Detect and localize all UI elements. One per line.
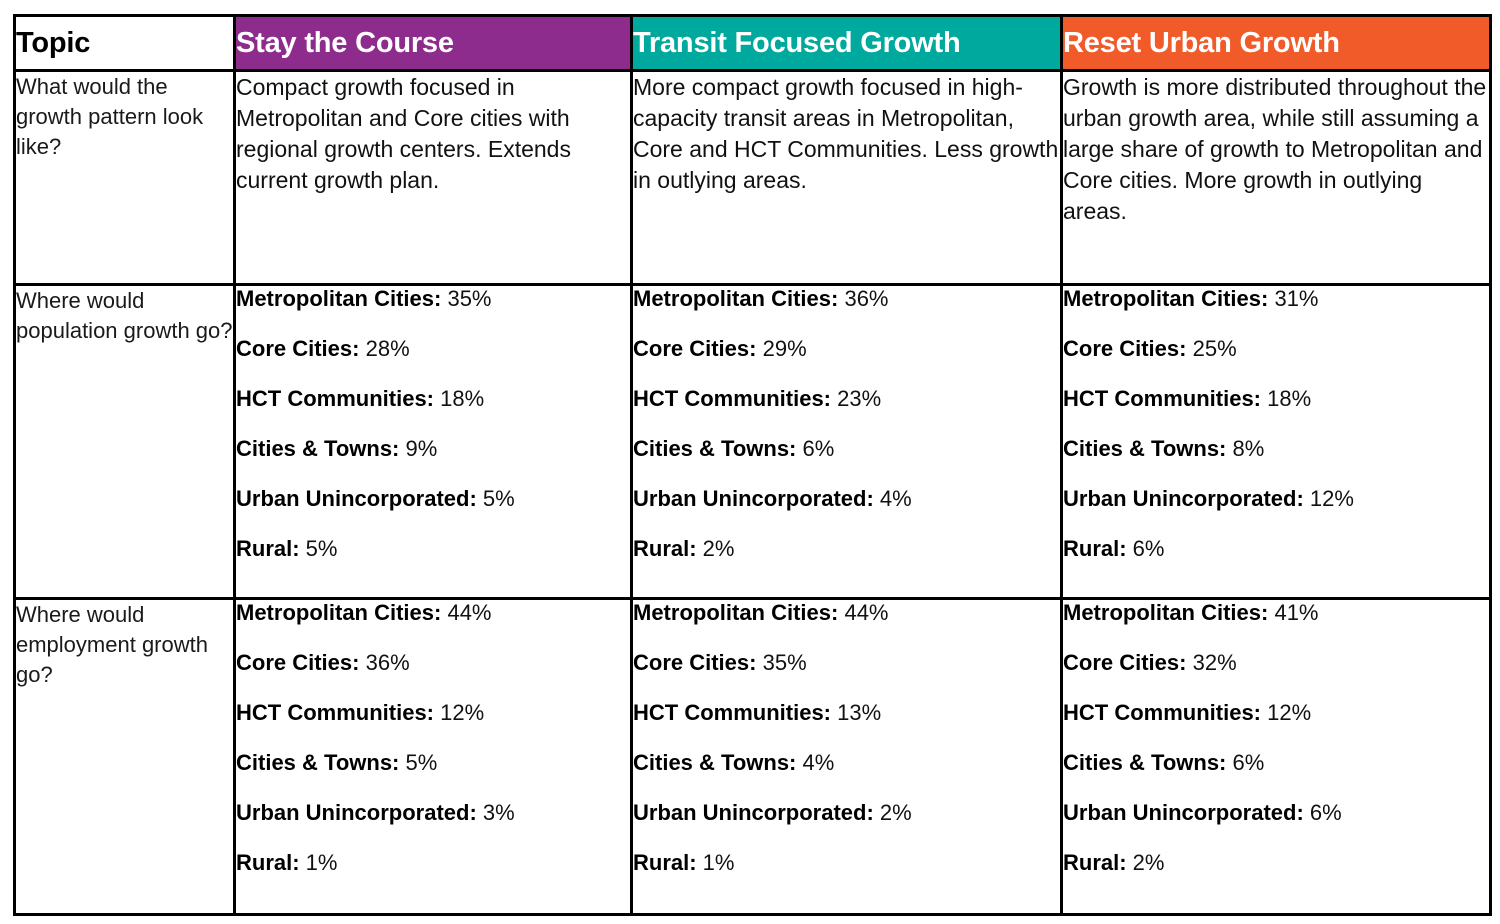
- breakdown-item: Metropolitan Cities: 36%: [633, 286, 1060, 312]
- column-header-topic: Topic: [15, 16, 235, 71]
- breakdown-item-label: HCT Communities:: [236, 700, 434, 725]
- table-row-population-growth: Where would population growth go? Metrop…: [15, 285, 1491, 599]
- row-topic-growth-pattern: What would the growth pattern look like?: [15, 71, 235, 285]
- cell-growth-pattern-reset-urban-growth: Growth is more distributed throughout th…: [1062, 71, 1491, 285]
- breakdown-item: Core Cities: 25%: [1063, 336, 1489, 362]
- breakdown-item-label: Rural:: [1063, 536, 1127, 561]
- breakdown-item: Urban Unincorporated: 3%: [236, 800, 630, 826]
- breakdown-item-label: Metropolitan Cities:: [1063, 600, 1268, 625]
- breakdown-list: Metropolitan Cities: 41%Core Cities: 32%…: [1063, 600, 1489, 876]
- breakdown-item: Cities & Towns: 8%: [1063, 436, 1489, 462]
- breakdown-item: Metropolitan Cities: 44%: [633, 600, 1060, 626]
- breakdown-list: Metropolitan Cities: 35%Core Cities: 28%…: [236, 286, 630, 562]
- breakdown-list: Metropolitan Cities: 31%Core Cities: 25%…: [1063, 286, 1489, 562]
- growth-scenario-comparison-table: Topic Stay the Course Transit Focused Gr…: [13, 14, 1492, 916]
- breakdown-item-label: Cities & Towns:: [236, 750, 399, 775]
- breakdown-item: Core Cities: 36%: [236, 650, 630, 676]
- breakdown-item: Rural: 2%: [1063, 850, 1489, 876]
- breakdown-item: Core Cities: 32%: [1063, 650, 1489, 676]
- row-topic-population-growth: Where would population growth go?: [15, 285, 235, 599]
- breakdown-item-value: 5%: [300, 536, 338, 561]
- breakdown-item-label: Urban Unincorporated:: [236, 486, 477, 511]
- breakdown-item-value: 6%: [1304, 800, 1342, 825]
- breakdown-item-value: 35%: [441, 286, 491, 311]
- breakdown-item: Cities & Towns: 5%: [236, 750, 630, 776]
- breakdown-item-label: Core Cities:: [1063, 336, 1186, 361]
- table-header-row: Topic Stay the Course Transit Focused Gr…: [15, 16, 1491, 71]
- breakdown-item: Urban Unincorporated: 6%: [1063, 800, 1489, 826]
- breakdown-item-value: 44%: [838, 600, 888, 625]
- breakdown-item-value: 12%: [434, 700, 484, 725]
- breakdown-item-value: 36%: [838, 286, 888, 311]
- breakdown-item-label: Core Cities:: [1063, 650, 1186, 675]
- breakdown-item: Urban Unincorporated: 2%: [633, 800, 1060, 826]
- breakdown-item-value: 18%: [434, 386, 484, 411]
- breakdown-item-value: 25%: [1186, 336, 1236, 361]
- breakdown-item: Rural: 6%: [1063, 536, 1489, 562]
- breakdown-item-value: 6%: [796, 436, 834, 461]
- breakdown-item: Core Cities: 28%: [236, 336, 630, 362]
- breakdown-item-value: 4%: [796, 750, 834, 775]
- breakdown-item: Cities & Towns: 4%: [633, 750, 1060, 776]
- breakdown-item-label: Cities & Towns:: [1063, 750, 1226, 775]
- breakdown-item-label: Cities & Towns:: [1063, 436, 1226, 461]
- breakdown-item: HCT Communities: 12%: [236, 700, 630, 726]
- cell-population-growth-stay-the-course: Metropolitan Cities: 35%Core Cities: 28%…: [235, 285, 632, 599]
- breakdown-item-label: Urban Unincorporated:: [236, 800, 477, 825]
- breakdown-item-label: Rural:: [633, 536, 697, 561]
- table-row-growth-pattern: What would the growth pattern look like?…: [15, 71, 1491, 285]
- breakdown-item-label: Cities & Towns:: [236, 436, 399, 461]
- breakdown-item-value: 4%: [874, 486, 912, 511]
- breakdown-item-label: Rural:: [633, 850, 697, 875]
- breakdown-item: Metropolitan Cities: 31%: [1063, 286, 1489, 312]
- cell-employment-growth-reset-urban-growth: Metropolitan Cities: 41%Core Cities: 32%…: [1062, 599, 1491, 915]
- breakdown-item: Core Cities: 29%: [633, 336, 1060, 362]
- breakdown-item-value: 2%: [1127, 850, 1165, 875]
- breakdown-item-value: 44%: [441, 600, 491, 625]
- breakdown-item-value: 8%: [1226, 436, 1264, 461]
- cell-employment-growth-transit-focused-growth: Metropolitan Cities: 44%Core Cities: 35%…: [632, 599, 1062, 915]
- breakdown-item-label: Rural:: [236, 536, 300, 561]
- breakdown-item: Metropolitan Cities: 35%: [236, 286, 630, 312]
- breakdown-item: Urban Unincorporated: 5%: [236, 486, 630, 512]
- breakdown-item-value: 12%: [1261, 700, 1311, 725]
- breakdown-item-value: 32%: [1186, 650, 1236, 675]
- breakdown-item: HCT Communities: 18%: [236, 386, 630, 412]
- cell-growth-pattern-transit-focused-growth: More compact growth focused in high-capa…: [632, 71, 1062, 285]
- breakdown-item-value: 29%: [756, 336, 806, 361]
- breakdown-item: Rural: 5%: [236, 536, 630, 562]
- breakdown-item: HCT Communities: 12%: [1063, 700, 1489, 726]
- column-header-reset-urban-growth: Reset Urban Growth: [1062, 16, 1491, 71]
- breakdown-item-label: Urban Unincorporated:: [633, 800, 874, 825]
- breakdown-item-label: Cities & Towns:: [633, 436, 796, 461]
- breakdown-item-value: 31%: [1268, 286, 1318, 311]
- breakdown-item-value: 6%: [1226, 750, 1264, 775]
- breakdown-item-value: 28%: [359, 336, 409, 361]
- breakdown-item-label: HCT Communities:: [236, 386, 434, 411]
- breakdown-item-label: Rural:: [236, 850, 300, 875]
- breakdown-item: Urban Unincorporated: 4%: [633, 486, 1060, 512]
- breakdown-item-label: Core Cities:: [236, 336, 359, 361]
- breakdown-item: Core Cities: 35%: [633, 650, 1060, 676]
- breakdown-item-value: 18%: [1261, 386, 1311, 411]
- breakdown-item: HCT Communities: 18%: [1063, 386, 1489, 412]
- row-topic-employment-growth: Where would employment growth go?: [15, 599, 235, 915]
- breakdown-item: Rural: 1%: [633, 850, 1060, 876]
- breakdown-item-label: Urban Unincorporated:: [1063, 486, 1304, 511]
- breakdown-item-label: Metropolitan Cities:: [236, 286, 441, 311]
- breakdown-item-value: 9%: [399, 436, 437, 461]
- breakdown-item-value: 23%: [831, 386, 881, 411]
- breakdown-item-label: HCT Communities:: [1063, 700, 1261, 725]
- cell-employment-growth-stay-the-course: Metropolitan Cities: 44%Core Cities: 36%…: [235, 599, 632, 915]
- breakdown-item: Cities & Towns: 6%: [1063, 750, 1489, 776]
- breakdown-item: Metropolitan Cities: 41%: [1063, 600, 1489, 626]
- breakdown-item-value: 13%: [831, 700, 881, 725]
- breakdown-item-value: 3%: [477, 800, 515, 825]
- breakdown-item: Rural: 1%: [236, 850, 630, 876]
- breakdown-item-label: Metropolitan Cities:: [1063, 286, 1268, 311]
- breakdown-item: Urban Unincorporated: 12%: [1063, 486, 1489, 512]
- breakdown-item: Cities & Towns: 6%: [633, 436, 1060, 462]
- breakdown-item-value: 5%: [477, 486, 515, 511]
- breakdown-item-value: 35%: [756, 650, 806, 675]
- breakdown-item-label: HCT Communities:: [633, 700, 831, 725]
- breakdown-item-label: Urban Unincorporated:: [633, 486, 874, 511]
- breakdown-item-value: 36%: [359, 650, 409, 675]
- breakdown-item-label: Metropolitan Cities:: [633, 600, 838, 625]
- breakdown-item-value: 2%: [697, 536, 735, 561]
- column-header-stay-the-course: Stay the Course: [235, 16, 632, 71]
- breakdown-item-value: 1%: [300, 850, 338, 875]
- breakdown-item-label: HCT Communities:: [633, 386, 831, 411]
- cell-population-growth-reset-urban-growth: Metropolitan Cities: 31%Core Cities: 25%…: [1062, 285, 1491, 599]
- breakdown-item-label: Rural:: [1063, 850, 1127, 875]
- breakdown-item-value: 1%: [697, 850, 735, 875]
- breakdown-item-value: 6%: [1127, 536, 1165, 561]
- breakdown-item: Cities & Towns: 9%: [236, 436, 630, 462]
- breakdown-item-value: 12%: [1304, 486, 1354, 511]
- breakdown-item: HCT Communities: 23%: [633, 386, 1060, 412]
- breakdown-list: Metropolitan Cities: 44%Core Cities: 35%…: [633, 600, 1060, 876]
- breakdown-item: HCT Communities: 13%: [633, 700, 1060, 726]
- cell-growth-pattern-stay-the-course: Compact growth focused in Metropolitan a…: [235, 71, 632, 285]
- breakdown-list: Metropolitan Cities: 44%Core Cities: 36%…: [236, 600, 630, 876]
- breakdown-item-label: Core Cities:: [633, 336, 756, 361]
- breakdown-item-label: Cities & Towns:: [633, 750, 796, 775]
- column-header-transit-focused-growth: Transit Focused Growth: [632, 16, 1062, 71]
- breakdown-list: Metropolitan Cities: 36%Core Cities: 29%…: [633, 286, 1060, 562]
- breakdown-item-label: Urban Unincorporated:: [1063, 800, 1304, 825]
- breakdown-item-label: Metropolitan Cities:: [236, 600, 441, 625]
- breakdown-item-label: HCT Communities:: [1063, 386, 1261, 411]
- breakdown-item-value: 5%: [399, 750, 437, 775]
- breakdown-item-value: 41%: [1268, 600, 1318, 625]
- breakdown-item-label: Metropolitan Cities:: [633, 286, 838, 311]
- table-row-employment-growth: Where would employment growth go? Metrop…: [15, 599, 1491, 915]
- breakdown-item-label: Core Cities:: [236, 650, 359, 675]
- breakdown-item-value: 2%: [874, 800, 912, 825]
- breakdown-item: Metropolitan Cities: 44%: [236, 600, 630, 626]
- breakdown-item: Rural: 2%: [633, 536, 1060, 562]
- breakdown-item-label: Core Cities:: [633, 650, 756, 675]
- cell-population-growth-transit-focused-growth: Metropolitan Cities: 36%Core Cities: 29%…: [632, 285, 1062, 599]
